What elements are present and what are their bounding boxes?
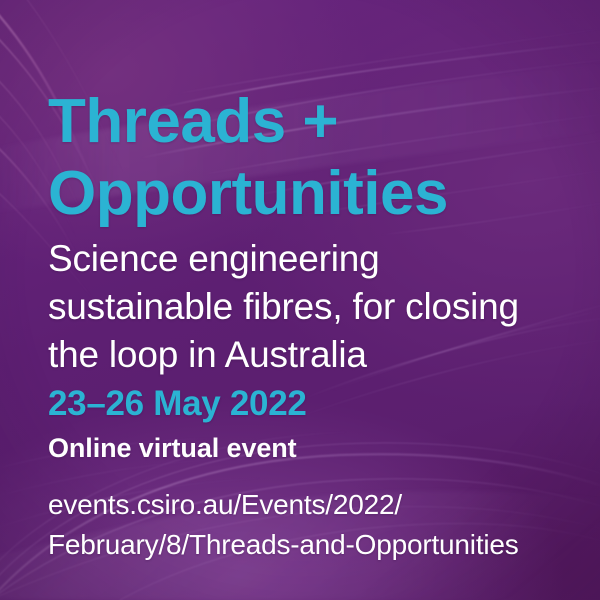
event-format: Online virtual event	[48, 431, 297, 465]
poster-headline: Threads + Opportunities	[48, 86, 576, 230]
poster-subheading: Science engineering sustainable fibres, …	[48, 235, 566, 379]
event-poster: Threads + Opportunities Science engineer…	[0, 0, 600, 600]
event-url[interactable]: events.csiro.au/Events/2022/ February/8/…	[48, 485, 570, 565]
event-date: 23–26 May 2022	[48, 383, 307, 425]
poster-content: Threads + Opportunities Science engineer…	[48, 0, 576, 600]
